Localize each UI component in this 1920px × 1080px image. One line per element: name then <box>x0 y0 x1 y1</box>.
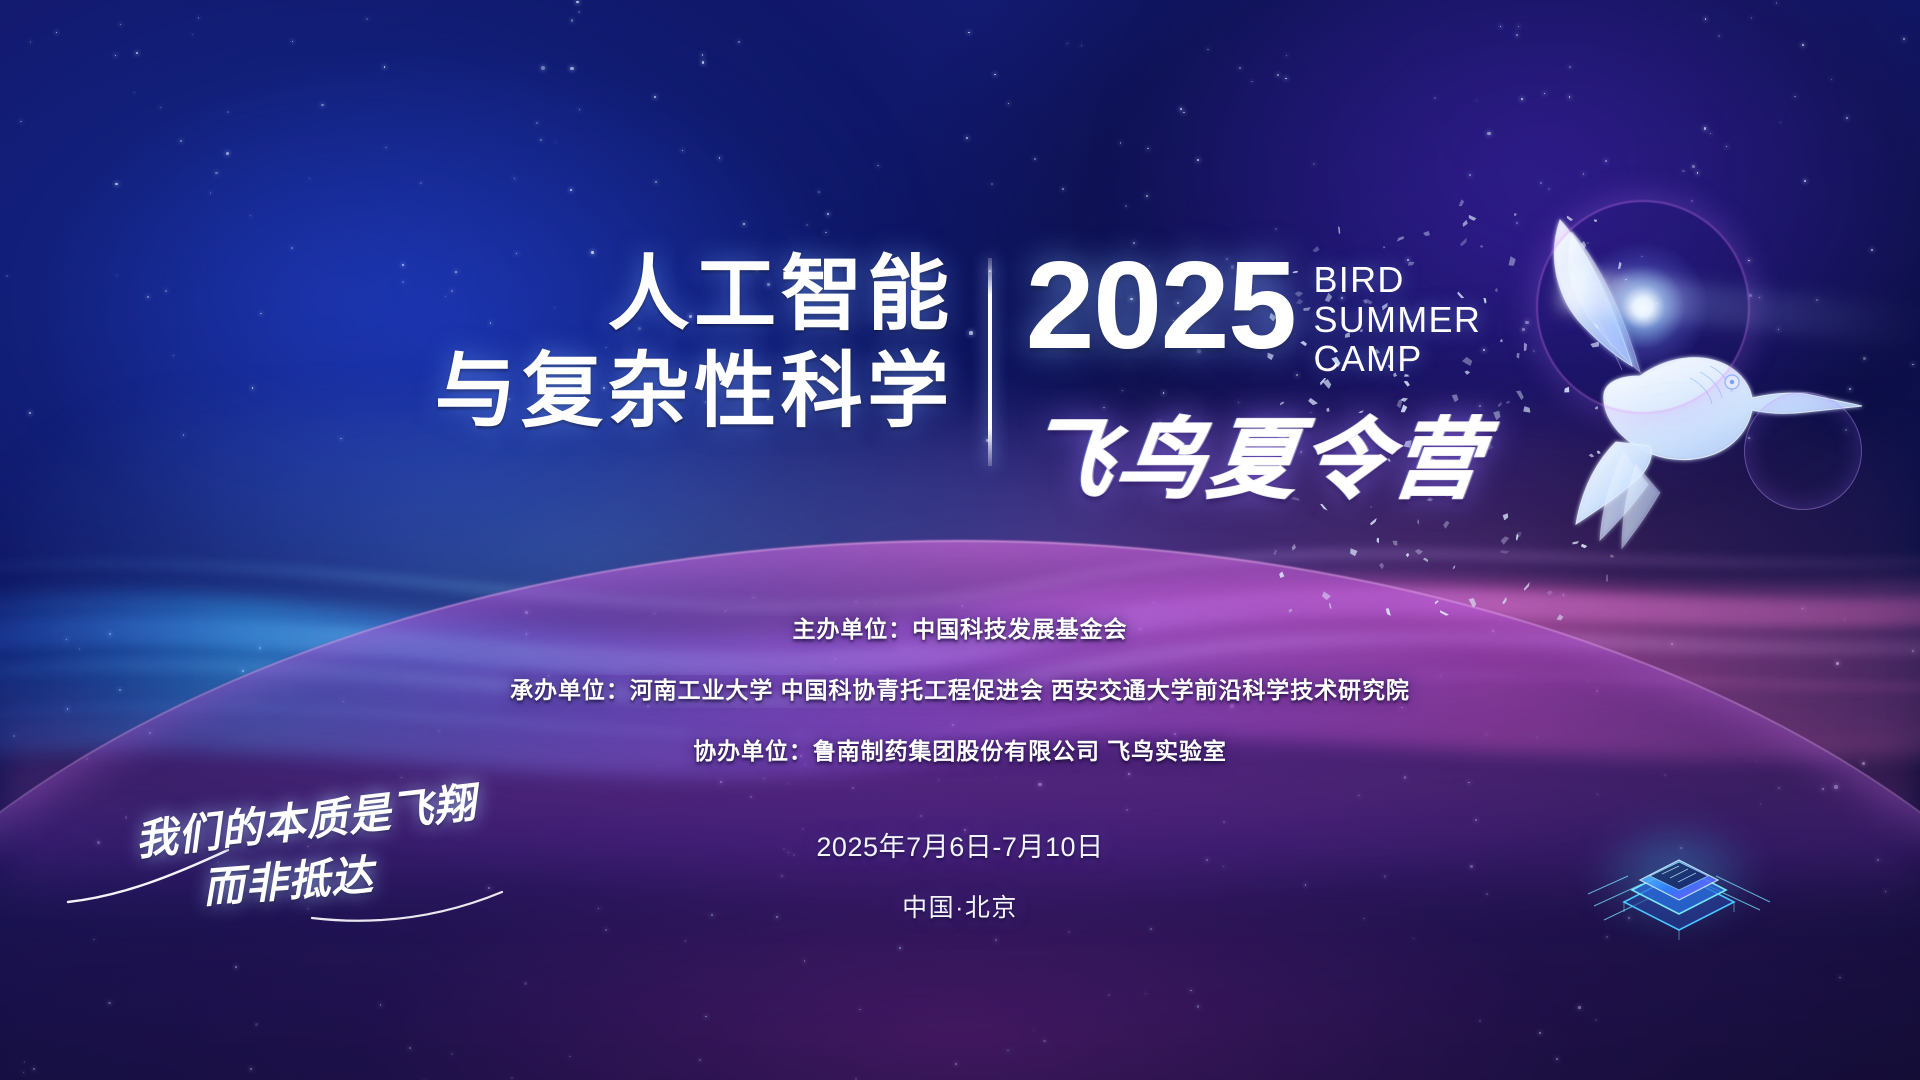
title-english: 2025 BIRD SUMMER CAMP 飞鸟夏令营 <box>992 252 1486 516</box>
organizer-coorganizer: 协办单位：鲁南制药集团股份有限公司 飞鸟实验室 <box>0 740 1920 763</box>
year-row: 2025 BIRD SUMMER CAMP <box>1026 252 1486 379</box>
title-line-2: 与复杂性科学 <box>435 349 954 434</box>
headline-block: 人工智能 与复杂性科学 2025 BIRD SUMMER CAMP 飞鸟夏令营 <box>0 252 1920 512</box>
organizer-host: 主办单位：中国科技发展基金会 <box>0 618 1920 641</box>
year-2025: 2025 <box>1026 252 1296 361</box>
title-chinese: 人工智能 与复杂性科学 <box>435 252 988 435</box>
event-date: 2025年7月6日-7月10日 <box>0 825 1920 864</box>
english-line-bird: BIRD <box>1314 260 1482 300</box>
english-stack: BIRD SUMMER CAMP <box>1314 260 1482 379</box>
english-line-summer: SUMMER <box>1314 300 1482 340</box>
title-line-1: 人工智能 <box>435 252 954 337</box>
organizer-undertaker: 承办单位：河南工业大学 中国科协青托工程促进会 西安交通大学前沿科学技术研究院 <box>0 679 1920 702</box>
event-location: 中国·北京 <box>0 888 1920 924</box>
english-line-camp: CAMP <box>1314 339 1482 379</box>
organizer-block: 主办单位：中国科技发展基金会 承办单位：河南工业大学 中国科协青托工程促进会 西… <box>0 618 1920 763</box>
camp-name-chinese: 飞鸟夏令营 <box>1018 389 1493 516</box>
event-details: 2025年7月6日-7月10日 中国·北京 <box>0 825 1920 924</box>
poster-stage: 人工智能 与复杂性科学 2025 BIRD SUMMER CAMP 飞鸟夏令营 … <box>0 0 1920 1080</box>
